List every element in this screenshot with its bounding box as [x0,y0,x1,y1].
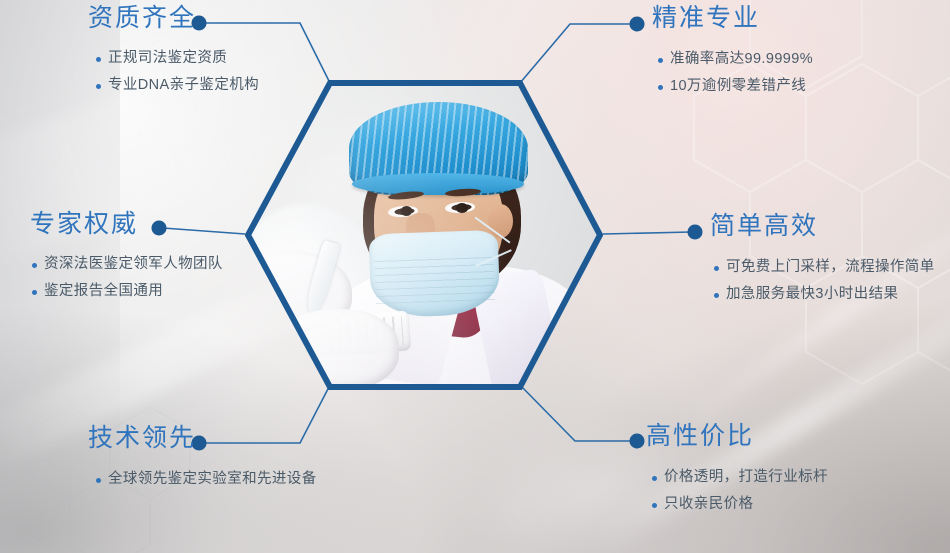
list-item: 只收亲民价格 [652,497,828,512]
bullet-dot-icon [714,293,719,298]
bullet-text: 10万逾例零差错产线 [670,78,806,94]
feature-qualification[interactable]: 资质齐全 正规司法鉴定资质 专业DNA亲子鉴定机构 [88,6,259,92]
center-hexagon [245,80,603,390]
list-item: 10万逾例零差错产线 [658,79,813,94]
list-item: 可免费上门采样，流程操作简单 [714,260,935,275]
feature-bullets: 全球领先鉴定实验室和先进设备 [96,472,317,487]
feature-simple[interactable]: 简单高效 可免费上门采样，流程操作简单 加急服务最快3小时出结果 [710,214,935,301]
bullet-dot-icon [32,263,37,268]
list-item: 专业DNA亲子鉴定机构 [96,78,259,93]
feature-title: 精准专业 [652,6,813,31]
bullet-dot-icon [32,290,37,295]
bullet-text: 专业DNA亲子鉴定机构 [108,77,259,93]
list-item: 鉴定报告全国通用 [32,284,223,299]
feature-title: 技术领先 [88,426,317,451]
list-item: 全球领先鉴定实验室和先进设备 [96,472,317,487]
bullet-text: 准确率高达99.9999% [670,51,813,67]
feature-bullets: 价格透明，打造行业标杆 只收亲民价格 [652,470,828,511]
list-item: 准确率高达99.9999% [658,52,813,67]
list-item: 资深法医鉴定领军人物团队 [32,257,223,272]
bullet-dot-icon [96,84,101,89]
list-item: 价格透明，打造行业标杆 [652,470,828,485]
feature-tech[interactable]: 技术领先 全球领先鉴定实验室和先进设备 [88,426,317,487]
bullet-text: 可免费上门采样，流程操作简单 [726,259,935,275]
feature-expert[interactable]: 专家权威 资深法医鉴定领军人物团队 鉴定报告全国通用 [30,212,223,298]
list-item: 正规司法鉴定资质 [96,51,259,66]
feature-bullets: 可免费上门采样，流程操作简单 加急服务最快3小时出结果 [714,260,935,301]
feature-precise[interactable]: 精准专业 准确率高达99.9999% 10万逾例零差错产线 [652,6,813,93]
bullet-text: 鉴定报告全国通用 [44,283,163,299]
feature-title: 资质齐全 [88,6,259,31]
bullet-dot-icon [658,85,663,90]
bullet-text: 价格透明，打造行业标杆 [664,469,828,485]
bullet-text: 全球领先鉴定实验室和先进设备 [108,471,317,487]
feature-title: 简单高效 [710,214,935,239]
feature-title: 专家权威 [30,212,223,237]
bullet-dot-icon [714,266,719,271]
infographic-canvas: 资质齐全 正规司法鉴定资质 专业DNA亲子鉴定机构 精准专业 准确率高达99.9… [0,0,950,553]
technician-photo [245,80,603,390]
bullet-text: 只收亲民价格 [664,496,753,512]
feature-title: 高性价比 [646,424,828,449]
feature-bullets: 资深法医鉴定领军人物团队 鉴定报告全国通用 [32,257,223,298]
feature-bullets: 正规司法鉴定资质 专业DNA亲子鉴定机构 [96,51,259,92]
feature-bullets: 准确率高达99.9999% 10万逾例零差错产线 [658,52,813,93]
bullet-dot-icon [96,57,101,62]
bullet-dot-icon [658,58,663,63]
bullet-dot-icon [96,478,101,483]
bullet-text: 加急服务最快3小时出结果 [726,286,898,302]
bullet-dot-icon [652,476,657,481]
list-item: 加急服务最快3小时出结果 [714,287,935,302]
feature-value[interactable]: 高性价比 价格透明，打造行业标杆 只收亲民价格 [646,424,828,511]
bullet-text: 正规司法鉴定资质 [108,50,227,66]
bullet-dot-icon [652,503,657,508]
bullet-text: 资深法医鉴定领军人物团队 [44,256,223,272]
